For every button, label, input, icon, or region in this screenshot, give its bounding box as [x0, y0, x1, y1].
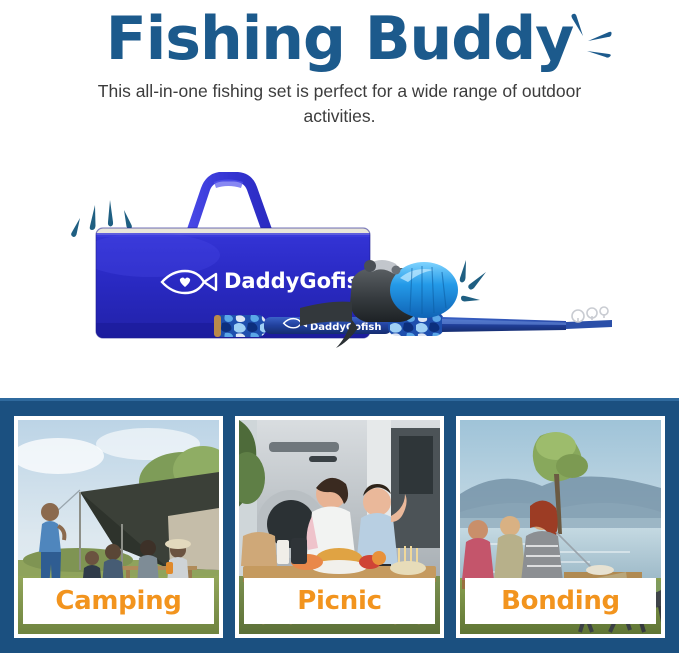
- sparkle-accent-right: [460, 260, 486, 302]
- rod-brand-text: DaddyGofish: [310, 322, 381, 333]
- camping-label-band: Camping: [23, 578, 214, 624]
- usecase-card-picnic[interactable]: Picnic: [235, 416, 444, 638]
- page-title: Fishing Buddy: [106, 8, 574, 71]
- usecase-card-camping[interactable]: Camping: [14, 416, 223, 638]
- usecase-label-bonding: Bonding: [501, 588, 620, 614]
- page-subtitle: This all-in-one fishing set is perfect f…: [75, 79, 605, 130]
- picnic-label-band: Picnic: [244, 578, 435, 624]
- hero-section: Fishing Buddy This all-in-one fishing se…: [0, 0, 679, 160]
- usecase-label-camping: Camping: [55, 588, 181, 614]
- usecase-card-list: Camping: [14, 416, 665, 638]
- headline-wrapper: Fishing Buddy: [106, 8, 574, 71]
- product-image: DaddyGofish DaddyGofish: [0, 160, 679, 398]
- bonding-label-band: Bonding: [465, 578, 656, 624]
- sparkle-burst-icon: [569, 10, 615, 70]
- rod-guides: [572, 307, 608, 322]
- usecase-card-bonding[interactable]: Bonding: [456, 416, 665, 638]
- product-illustration: DaddyGofish DaddyGofish: [0, 160, 679, 398]
- bag-handles: [186, 172, 273, 232]
- usecase-label-picnic: Picnic: [297, 588, 381, 614]
- usecase-section: Camping: [0, 398, 679, 653]
